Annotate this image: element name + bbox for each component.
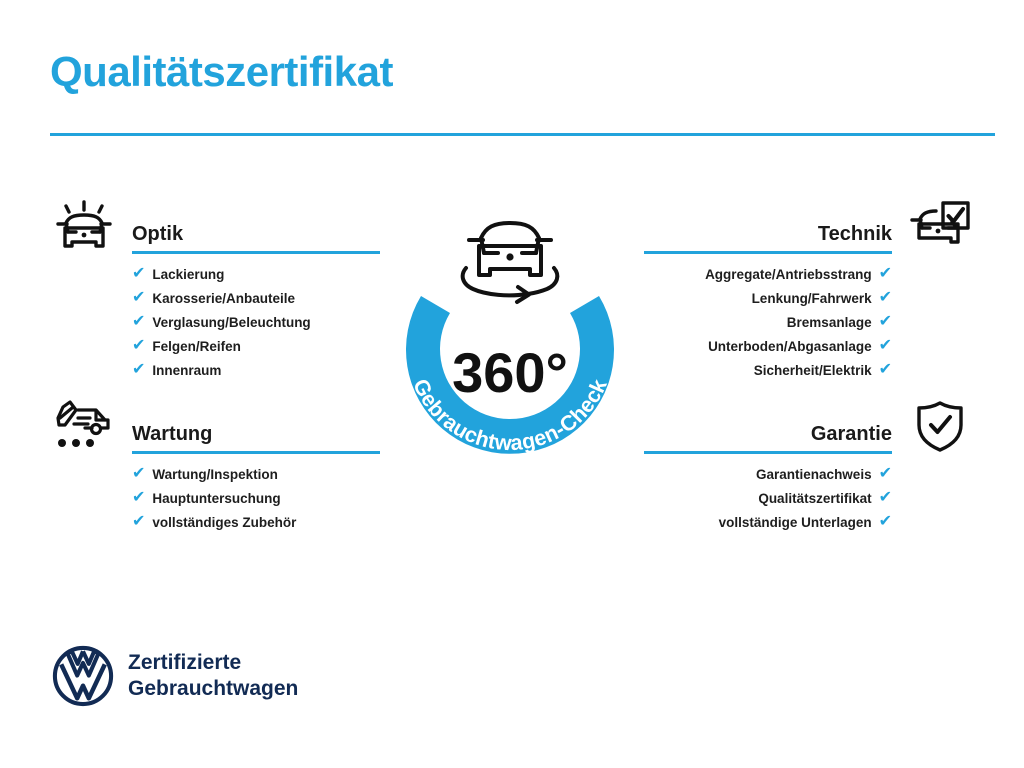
check-icon: ✔: [879, 490, 892, 506]
list-item: Bremsanlage ✔: [644, 310, 984, 334]
section-wartung-underline: [132, 451, 380, 454]
list-item: ✔ Verglasung/Beleuchtung: [40, 310, 380, 334]
check-icon: ✔: [132, 314, 145, 330]
list-item-label: Bremsanlage: [787, 315, 872, 330]
check-icon: ✔: [132, 514, 145, 530]
list-item-label: Qualitätszertifikat: [758, 491, 871, 506]
shield-check-icon: [908, 398, 972, 456]
footer-brand-logo: Zertifizierte Gebrauchtwagen: [52, 645, 298, 707]
badge-360-gebrauchtwagen-check: 360° Gebrauchtwagen-Check: [374, 196, 646, 486]
check-icon: ✔: [132, 266, 145, 282]
list-item: ✔ Karosserie/Anbauteile: [40, 286, 380, 310]
list-item-label: Verglasung/Beleuchtung: [152, 315, 310, 330]
list-item: Sicherheit/Elektrik ✔: [644, 358, 984, 382]
check-icon: ✔: [879, 362, 892, 378]
check-icon: ✔: [879, 514, 892, 530]
list-item: Qualitätszertifikat ✔: [644, 486, 984, 510]
section-technik: Technik Aggregate/Antriebsstrang ✔ Lenku…: [644, 200, 984, 382]
section-garantie-title: Garantie: [811, 423, 892, 446]
brand-wordmark-line1: Zertifizierte: [128, 650, 298, 676]
list-item: Aggregate/Antriebsstrang ✔: [644, 262, 984, 286]
list-item-label: Sicherheit/Elektrik: [754, 363, 872, 378]
section-garantie-list: Garantienachweis ✔ Qualitätszertifikat ✔…: [644, 462, 984, 534]
check-icon: ✔: [879, 314, 892, 330]
section-optik-list: ✔ Lackierung ✔ Karosserie/Anbauteile ✔ V…: [40, 262, 380, 382]
list-item: ✔ Hauptuntersuchung: [40, 486, 380, 510]
list-item-label: Aggregate/Antriebsstrang: [705, 267, 872, 282]
check-icon: ✔: [132, 362, 145, 378]
section-optik-underline: [132, 251, 380, 254]
section-optik-title: Optik: [132, 223, 183, 246]
list-item-label: Innenraum: [152, 363, 221, 378]
list-item-label: Lackierung: [152, 267, 224, 282]
list-item: ✔ Lackierung: [40, 262, 380, 286]
section-wartung-title: Wartung: [132, 423, 212, 446]
list-item-label: Karosserie/Anbauteile: [152, 291, 295, 306]
badge-value: 360°: [452, 341, 568, 404]
check-icon: ✔: [132, 490, 145, 506]
volkswagen-logo-icon: [52, 645, 114, 707]
section-wartung-header: Wartung: [40, 400, 380, 462]
check-icon: ✔: [132, 466, 145, 482]
brand-wordmark: Zertifizierte Gebrauchtwagen: [128, 650, 298, 701]
brand-wordmark-line2: Gebrauchtwagen: [128, 676, 298, 702]
list-item: ✔ Innenraum: [40, 358, 380, 382]
section-technik-header: Technik: [644, 200, 984, 262]
list-item-label: Lenkung/Fahrwerk: [752, 291, 872, 306]
check-icon: ✔: [879, 266, 892, 282]
header-divider: [50, 133, 995, 136]
car-shine-icon: [52, 198, 116, 256]
section-garantie-header: Garantie: [644, 400, 984, 462]
section-optik: Optik ✔ Lackierung ✔ Karosserie/Anbautei…: [40, 200, 380, 382]
list-item: vollständige Unterlagen ✔: [644, 510, 984, 534]
section-wartung-list: ✔ Wartung/Inspektion ✔ Hauptuntersuchung…: [40, 462, 380, 534]
page-title: Qualitätszertifikat: [50, 50, 393, 94]
section-technik-underline: [644, 251, 892, 254]
section-garantie: Garantie Garantienachweis ✔ Qualitätszer…: [644, 400, 984, 534]
check-icon: ✔: [879, 338, 892, 354]
section-technik-title: Technik: [818, 223, 892, 246]
car-rotate-360-icon: [463, 223, 558, 302]
list-item-label: Unterboden/Abgasanlage: [708, 339, 872, 354]
list-item-label: Wartung/Inspektion: [152, 467, 278, 482]
section-wartung: Wartung ✔ Wartung/Inspektion ✔ Hauptunte…: [40, 400, 380, 534]
pen-car-service-icon: [52, 398, 116, 456]
list-item: Unterboden/Abgasanlage ✔: [644, 334, 984, 358]
list-item-label: Hauptuntersuchung: [152, 491, 280, 506]
section-garantie-underline: [644, 451, 892, 454]
list-item: Lenkung/Fahrwerk ✔: [644, 286, 984, 310]
car-checkbox-icon: [908, 198, 972, 256]
check-icon: ✔: [879, 466, 892, 482]
list-item-label: Felgen/Reifen: [152, 339, 241, 354]
check-icon: ✔: [132, 338, 145, 354]
list-item-label: Garantienachweis: [756, 467, 872, 482]
list-item-label: vollständiges Zubehör: [152, 515, 296, 530]
list-item: ✔ Felgen/Reifen: [40, 334, 380, 358]
section-technik-list: Aggregate/Antriebsstrang ✔ Lenkung/Fahrw…: [644, 262, 984, 382]
check-icon: ✔: [132, 290, 145, 306]
list-item: ✔ vollständiges Zubehör: [40, 510, 380, 534]
check-icon: ✔: [879, 290, 892, 306]
section-optik-header: Optik: [40, 200, 380, 262]
certificate-sheet: Qualitätszertifikat Optik: [0, 0, 1024, 768]
list-item-label: vollständige Unterlagen: [719, 515, 872, 530]
list-item: ✔ Wartung/Inspektion: [40, 462, 380, 486]
list-item: Garantienachweis ✔: [644, 462, 984, 486]
